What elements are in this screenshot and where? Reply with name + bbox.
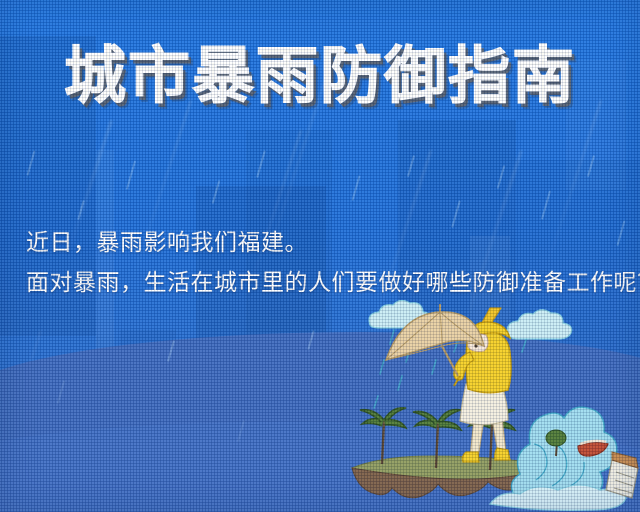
body-line-2: 面对暴雨，生活在城市里的人们要做好哪些防御准备工作呢？	[26, 262, 640, 302]
cloud-right	[507, 310, 571, 339]
storm-illustration	[340, 300, 640, 512]
palm-tree-1	[360, 408, 406, 464]
body-copy: 近日，暴雨影响我们福建。 面对暴雨，生活在城市里的人们要做好哪些防御准备工作呢？	[26, 222, 640, 302]
body-line-1: 近日，暴雨影响我们福建。	[26, 222, 640, 262]
poster-canvas: 城市暴雨防御指南 近日，暴雨影响我们福建。 面对暴雨，生活在城市里的人们要做好哪…	[0, 0, 640, 512]
page-title: 城市暴雨防御指南	[0, 46, 640, 108]
flood-wave	[490, 407, 638, 510]
